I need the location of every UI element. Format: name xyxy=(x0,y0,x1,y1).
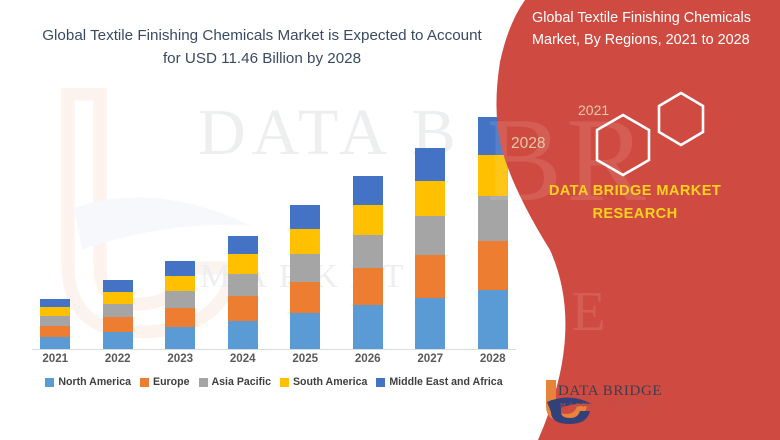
bar-segment xyxy=(290,282,320,313)
legend-label: Asia Pacific xyxy=(212,376,271,388)
legend-item[interactable]: North America xyxy=(45,376,131,388)
brand-line-1: DATA BRIDGE MARKET xyxy=(549,183,721,199)
legend-swatch-icon xyxy=(45,378,54,387)
stacked-bar xyxy=(40,299,70,349)
bar-column-2024 xyxy=(222,100,264,349)
bar-segment xyxy=(415,148,445,181)
bar-segment xyxy=(40,307,70,316)
bar-segment xyxy=(290,313,320,349)
x-axis-tick-2021: 2021 xyxy=(34,352,76,365)
bar-segment xyxy=(353,235,383,268)
bar-segment xyxy=(103,304,133,317)
bar-segment xyxy=(40,299,70,307)
brand-line-2: RESEARCH xyxy=(592,206,677,222)
bar-segment xyxy=(353,176,383,204)
legend-label: South America xyxy=(293,376,367,388)
stacked-bar xyxy=(165,261,195,349)
panel-title: Global Textile Finishing Chemicals Marke… xyxy=(532,8,775,51)
bar-segment xyxy=(353,268,383,305)
bar-segment xyxy=(290,205,320,229)
bar-segment xyxy=(228,236,258,255)
hex-label-2028: 2028 xyxy=(511,135,545,153)
x-axis-labels: 20212022202320242025202620272028 xyxy=(24,352,524,365)
stacked-bar xyxy=(103,280,133,349)
legend-swatch-icon xyxy=(140,378,149,387)
x-axis-line xyxy=(32,349,516,350)
logo-wordmark: DATA BRIDGE xyxy=(558,383,662,400)
bar-segment xyxy=(40,337,70,349)
chart-plot-area xyxy=(24,100,524,350)
chart-legend: North AmericaEuropeAsia PacificSouth Ame… xyxy=(24,376,524,388)
bar-group xyxy=(24,100,524,349)
bar-segment xyxy=(415,255,445,298)
bar-column-2022 xyxy=(97,100,139,349)
bar-segment xyxy=(353,205,383,235)
bar-segment xyxy=(40,326,70,337)
legend-label: Middle East and Africa xyxy=(389,376,502,388)
bar-segment xyxy=(40,316,70,326)
hex-label-2021: 2021 xyxy=(578,102,609,118)
x-axis-tick-2022: 2022 xyxy=(97,352,139,365)
legend-swatch-icon xyxy=(199,378,208,387)
bar-segment xyxy=(165,308,195,327)
bar-column-2023 xyxy=(159,100,201,349)
bar-segment xyxy=(165,327,195,349)
bar-segment xyxy=(165,291,195,308)
x-axis-tick-2027: 2027 xyxy=(409,352,451,365)
stacked-bar xyxy=(353,176,383,349)
bar-segment xyxy=(103,317,133,332)
bar-segment xyxy=(415,181,445,216)
bar-segment xyxy=(228,254,258,274)
bar-segment xyxy=(228,274,258,296)
red-panel-content: Global Textile Finishing Chemicals Marke… xyxy=(490,0,780,440)
legend-label: Europe xyxy=(153,376,190,388)
bar-segment xyxy=(165,261,195,276)
bar-segment xyxy=(103,280,133,291)
bar-column-2026 xyxy=(347,100,389,349)
bar-segment xyxy=(415,298,445,349)
infographic-canvas: DATA B MARKET Global Textile Finishing C… xyxy=(0,0,780,440)
bar-column-2021 xyxy=(34,100,76,349)
bar-segment xyxy=(228,321,258,349)
legend-item[interactable]: South America xyxy=(280,376,367,388)
x-axis-tick-2026: 2026 xyxy=(347,352,389,365)
legend-label: North America xyxy=(58,376,131,388)
legend-item[interactable]: Europe xyxy=(140,376,190,388)
bar-segment xyxy=(103,332,133,349)
bar-column-2025 xyxy=(284,100,326,349)
bar-column-2027 xyxy=(409,100,451,349)
logo-tagline: MARKET RESEARCH xyxy=(560,402,660,409)
stacked-bar xyxy=(290,205,320,349)
legend-item[interactable]: Asia Pacific xyxy=(199,376,271,388)
bar-segment xyxy=(165,276,195,291)
bar-segment xyxy=(290,229,320,254)
legend-swatch-icon xyxy=(280,378,289,387)
bar-segment xyxy=(103,292,133,304)
x-axis-tick-2023: 2023 xyxy=(159,352,201,365)
x-axis-tick-2024: 2024 xyxy=(222,352,264,365)
stacked-bar xyxy=(228,236,258,349)
bar-segment xyxy=(228,296,258,321)
chart-title: Global Textile Finishing Chemicals Marke… xyxy=(36,24,488,70)
stacked-bar xyxy=(415,148,445,349)
legend-item[interactable]: Middle East and Africa xyxy=(376,376,502,388)
bar-segment xyxy=(290,254,320,282)
x-axis-tick-2025: 2025 xyxy=(284,352,326,365)
legend-swatch-icon xyxy=(376,378,385,387)
bar-segment xyxy=(415,216,445,255)
bar-segment xyxy=(353,305,383,349)
brand-name: DATA BRIDGE MARKET RESEARCH xyxy=(510,180,760,225)
